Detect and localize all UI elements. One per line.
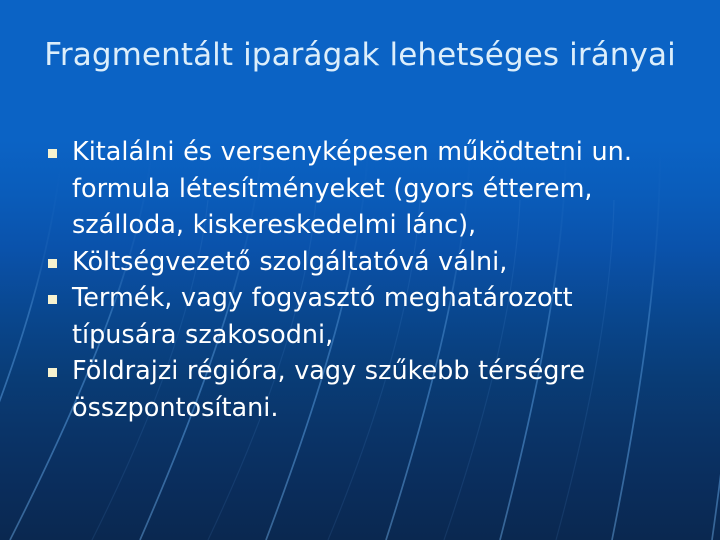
list-item-text: Földrajzi régióra, vagy szűkebb térségre… xyxy=(72,353,684,426)
list-item-text: Termék, vagy fogyasztó meghatározott típ… xyxy=(72,280,684,353)
list-item-text: Költségvezető szolgáltatóvá válni, xyxy=(72,244,684,281)
slide-title: Fragmentált iparágak lehetséges irányai xyxy=(0,36,720,74)
list-item: Kitalálni és versenyképesen működtetni u… xyxy=(44,134,684,244)
list-item-text: Kitalálni és versenyképesen működtetni u… xyxy=(72,134,684,244)
list-item: Földrajzi régióra, vagy szűkebb térségre… xyxy=(44,353,684,426)
square-bullet-icon xyxy=(48,149,57,158)
list-item: Termék, vagy fogyasztó meghatározott típ… xyxy=(44,280,684,353)
square-bullet-icon xyxy=(48,368,57,377)
list-item: Költségvezető szolgáltatóvá válni, xyxy=(44,244,684,281)
square-bullet-icon xyxy=(48,295,57,304)
square-bullet-icon xyxy=(48,259,57,268)
slide-body-content: Kitalálni és versenyképesen működtetni u… xyxy=(44,134,684,426)
presentation-slide: Fragmentált iparágak lehetséges irányai … xyxy=(0,0,720,540)
